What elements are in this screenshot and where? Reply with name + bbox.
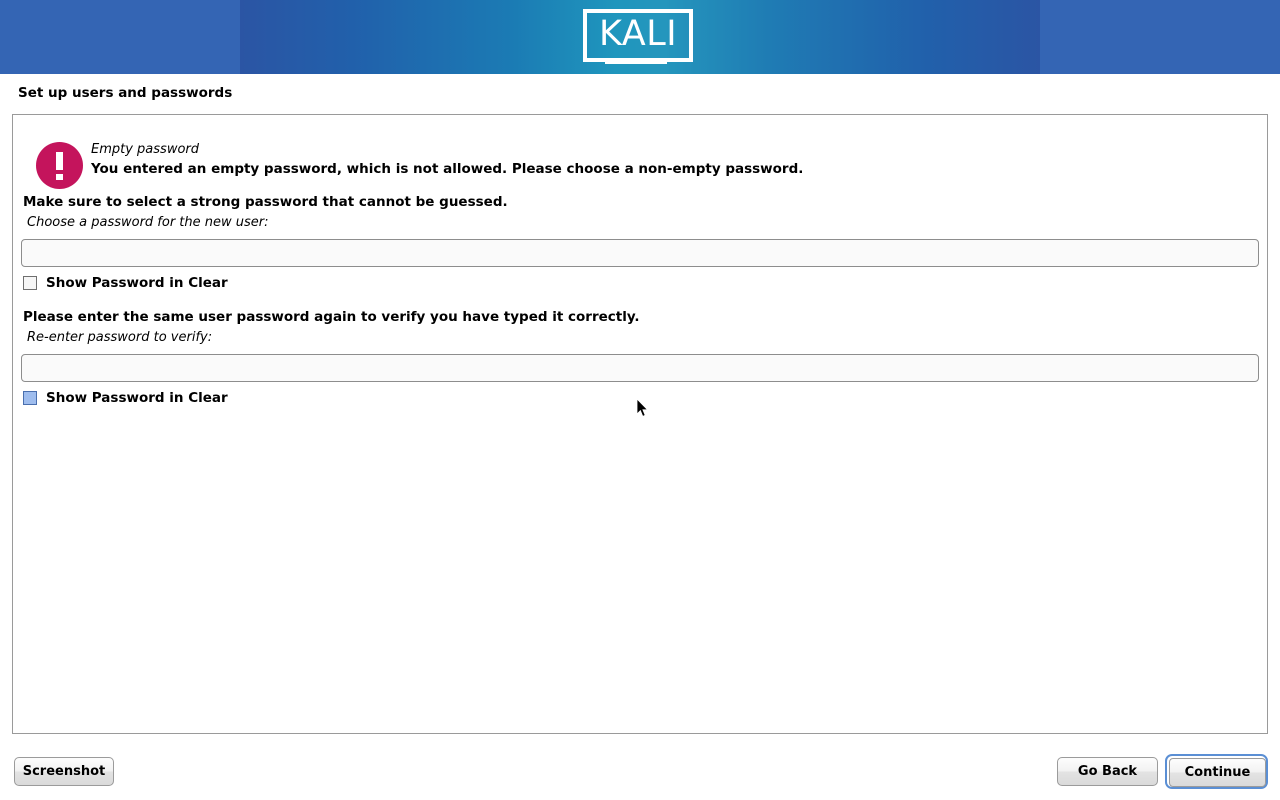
page-title: Set up users and passwords [18, 85, 232, 101]
show-password-label-1: Show Password in Clear [46, 275, 228, 291]
password-instruction: Make sure to select a strong password th… [23, 194, 508, 210]
main-content-panel: Empty password You entered an empty pass… [12, 114, 1268, 734]
exclamation-dot [56, 174, 63, 180]
installer-window: KALI Set up users and passwords Empty pa… [0, 0, 1280, 800]
verify-password-input[interactable] [21, 354, 1259, 382]
password-field-label: Choose a password for the new user: [27, 215, 269, 230]
screenshot-button[interactable]: Screenshot [14, 757, 114, 786]
exclamation-bar [56, 152, 63, 170]
verify-field-label: Re-enter password to verify: [27, 330, 212, 345]
continue-button-focus-ring: Continue [1165, 754, 1268, 789]
error-message: You entered an empty password, which is … [91, 161, 803, 177]
error-title: Empty password [91, 142, 199, 157]
show-password-checkbox-1[interactable] [23, 276, 37, 290]
show-password-label-2: Show Password in Clear [46, 390, 228, 406]
password-input[interactable] [21, 239, 1259, 267]
show-password-checkbox-2[interactable] [23, 391, 37, 405]
verify-instruction: Please enter the same user password agai… [23, 309, 640, 325]
kali-logo-text: KALI [583, 9, 693, 62]
kali-banner: KALI [0, 0, 1280, 74]
error-exclamation-icon [36, 142, 83, 189]
kali-logo: KALI [583, 9, 697, 66]
go-back-button[interactable]: Go Back [1057, 757, 1158, 786]
continue-button[interactable]: Continue [1169, 758, 1266, 787]
